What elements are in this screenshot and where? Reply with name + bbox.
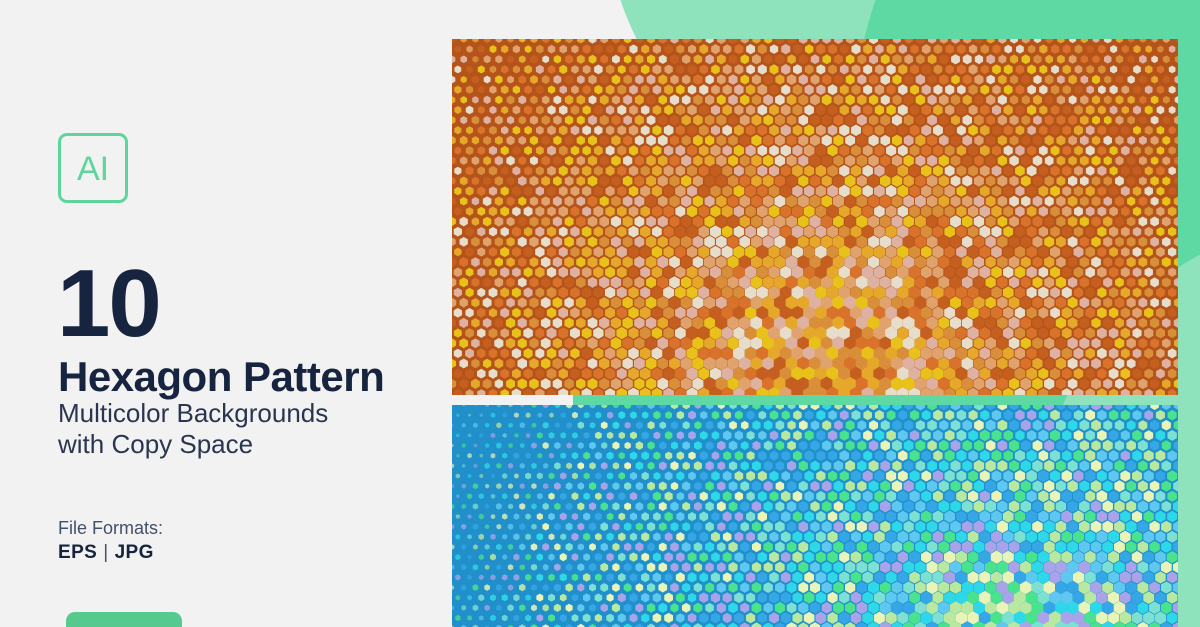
blue-hexagon-preview[interactable] (452, 405, 1178, 627)
file-formats-value: EPS|JPG (58, 541, 154, 565)
format-eps: EPS (58, 542, 97, 563)
svg-text:AI: AI (77, 150, 109, 188)
item-count: 10 (57, 256, 160, 352)
file-formats-label: File Formats: (58, 517, 163, 539)
ai-file-format-icon: AI (58, 133, 128, 203)
subtitle-line-2: with Copy Space (58, 429, 328, 460)
accent-pill[interactable] (66, 612, 182, 627)
format-jpg: JPG (115, 542, 154, 563)
product-preview-banner: AI 10 Hexagon Pattern Multicolor Backgro… (0, 0, 1200, 627)
page-subtitle: Multicolor Backgrounds with Copy Space (58, 398, 328, 460)
page-title: Hexagon Pattern (58, 353, 384, 401)
orange-hexagon-preview[interactable] (452, 39, 1178, 395)
format-separator: | (97, 542, 114, 563)
subtitle-line-1: Multicolor Backgrounds (58, 398, 328, 429)
info-column: AI 10 Hexagon Pattern Multicolor Backgro… (0, 0, 452, 627)
